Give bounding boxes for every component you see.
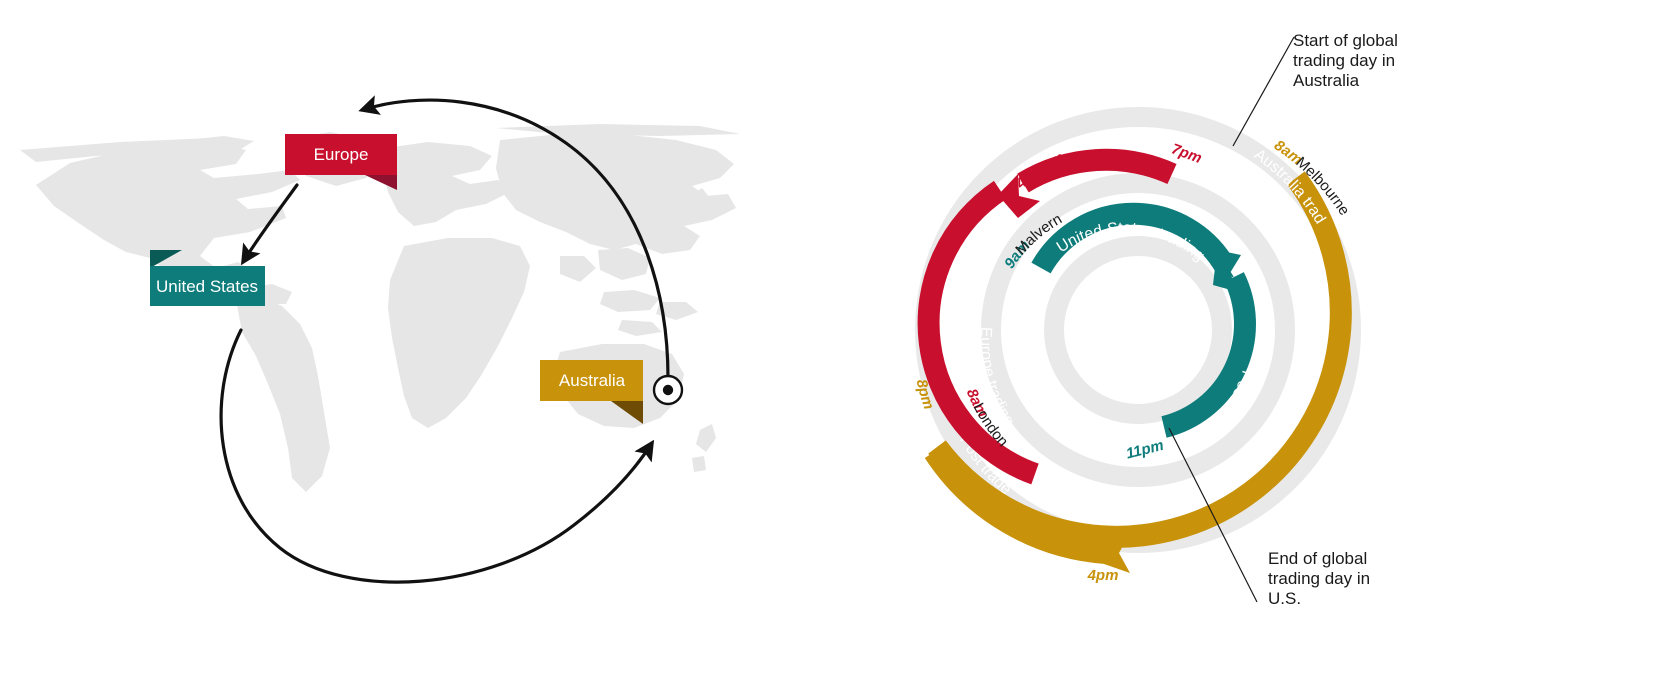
australia-end-time: 4pm [1087, 567, 1119, 584]
track-inner-grey [1054, 246, 1222, 414]
annotation-start-of-day-leader [1233, 37, 1294, 146]
map-tag-europe-label: Europe [314, 145, 369, 164]
annotation-start-of-day-text: Start of global trading day in Australia [1293, 31, 1403, 90]
map-tag-australia-label: Australia [559, 371, 626, 390]
map-tag-europe-tail [365, 175, 397, 190]
us-end-time: 11pm [1124, 437, 1165, 463]
world-map-rotation-panel: Europe United States Australia [20, 100, 740, 582]
map-tag-united-states-label: United States [156, 277, 258, 296]
annotation-end-of-day-text: End of global trading day in U.S. [1268, 549, 1375, 608]
melbourne-location-marker[interactable] [654, 376, 682, 404]
annotation-start-of-day: Start of global trading day in Australia [1233, 31, 1403, 146]
infographic-root: Europe United States Australia [0, 0, 1654, 687]
